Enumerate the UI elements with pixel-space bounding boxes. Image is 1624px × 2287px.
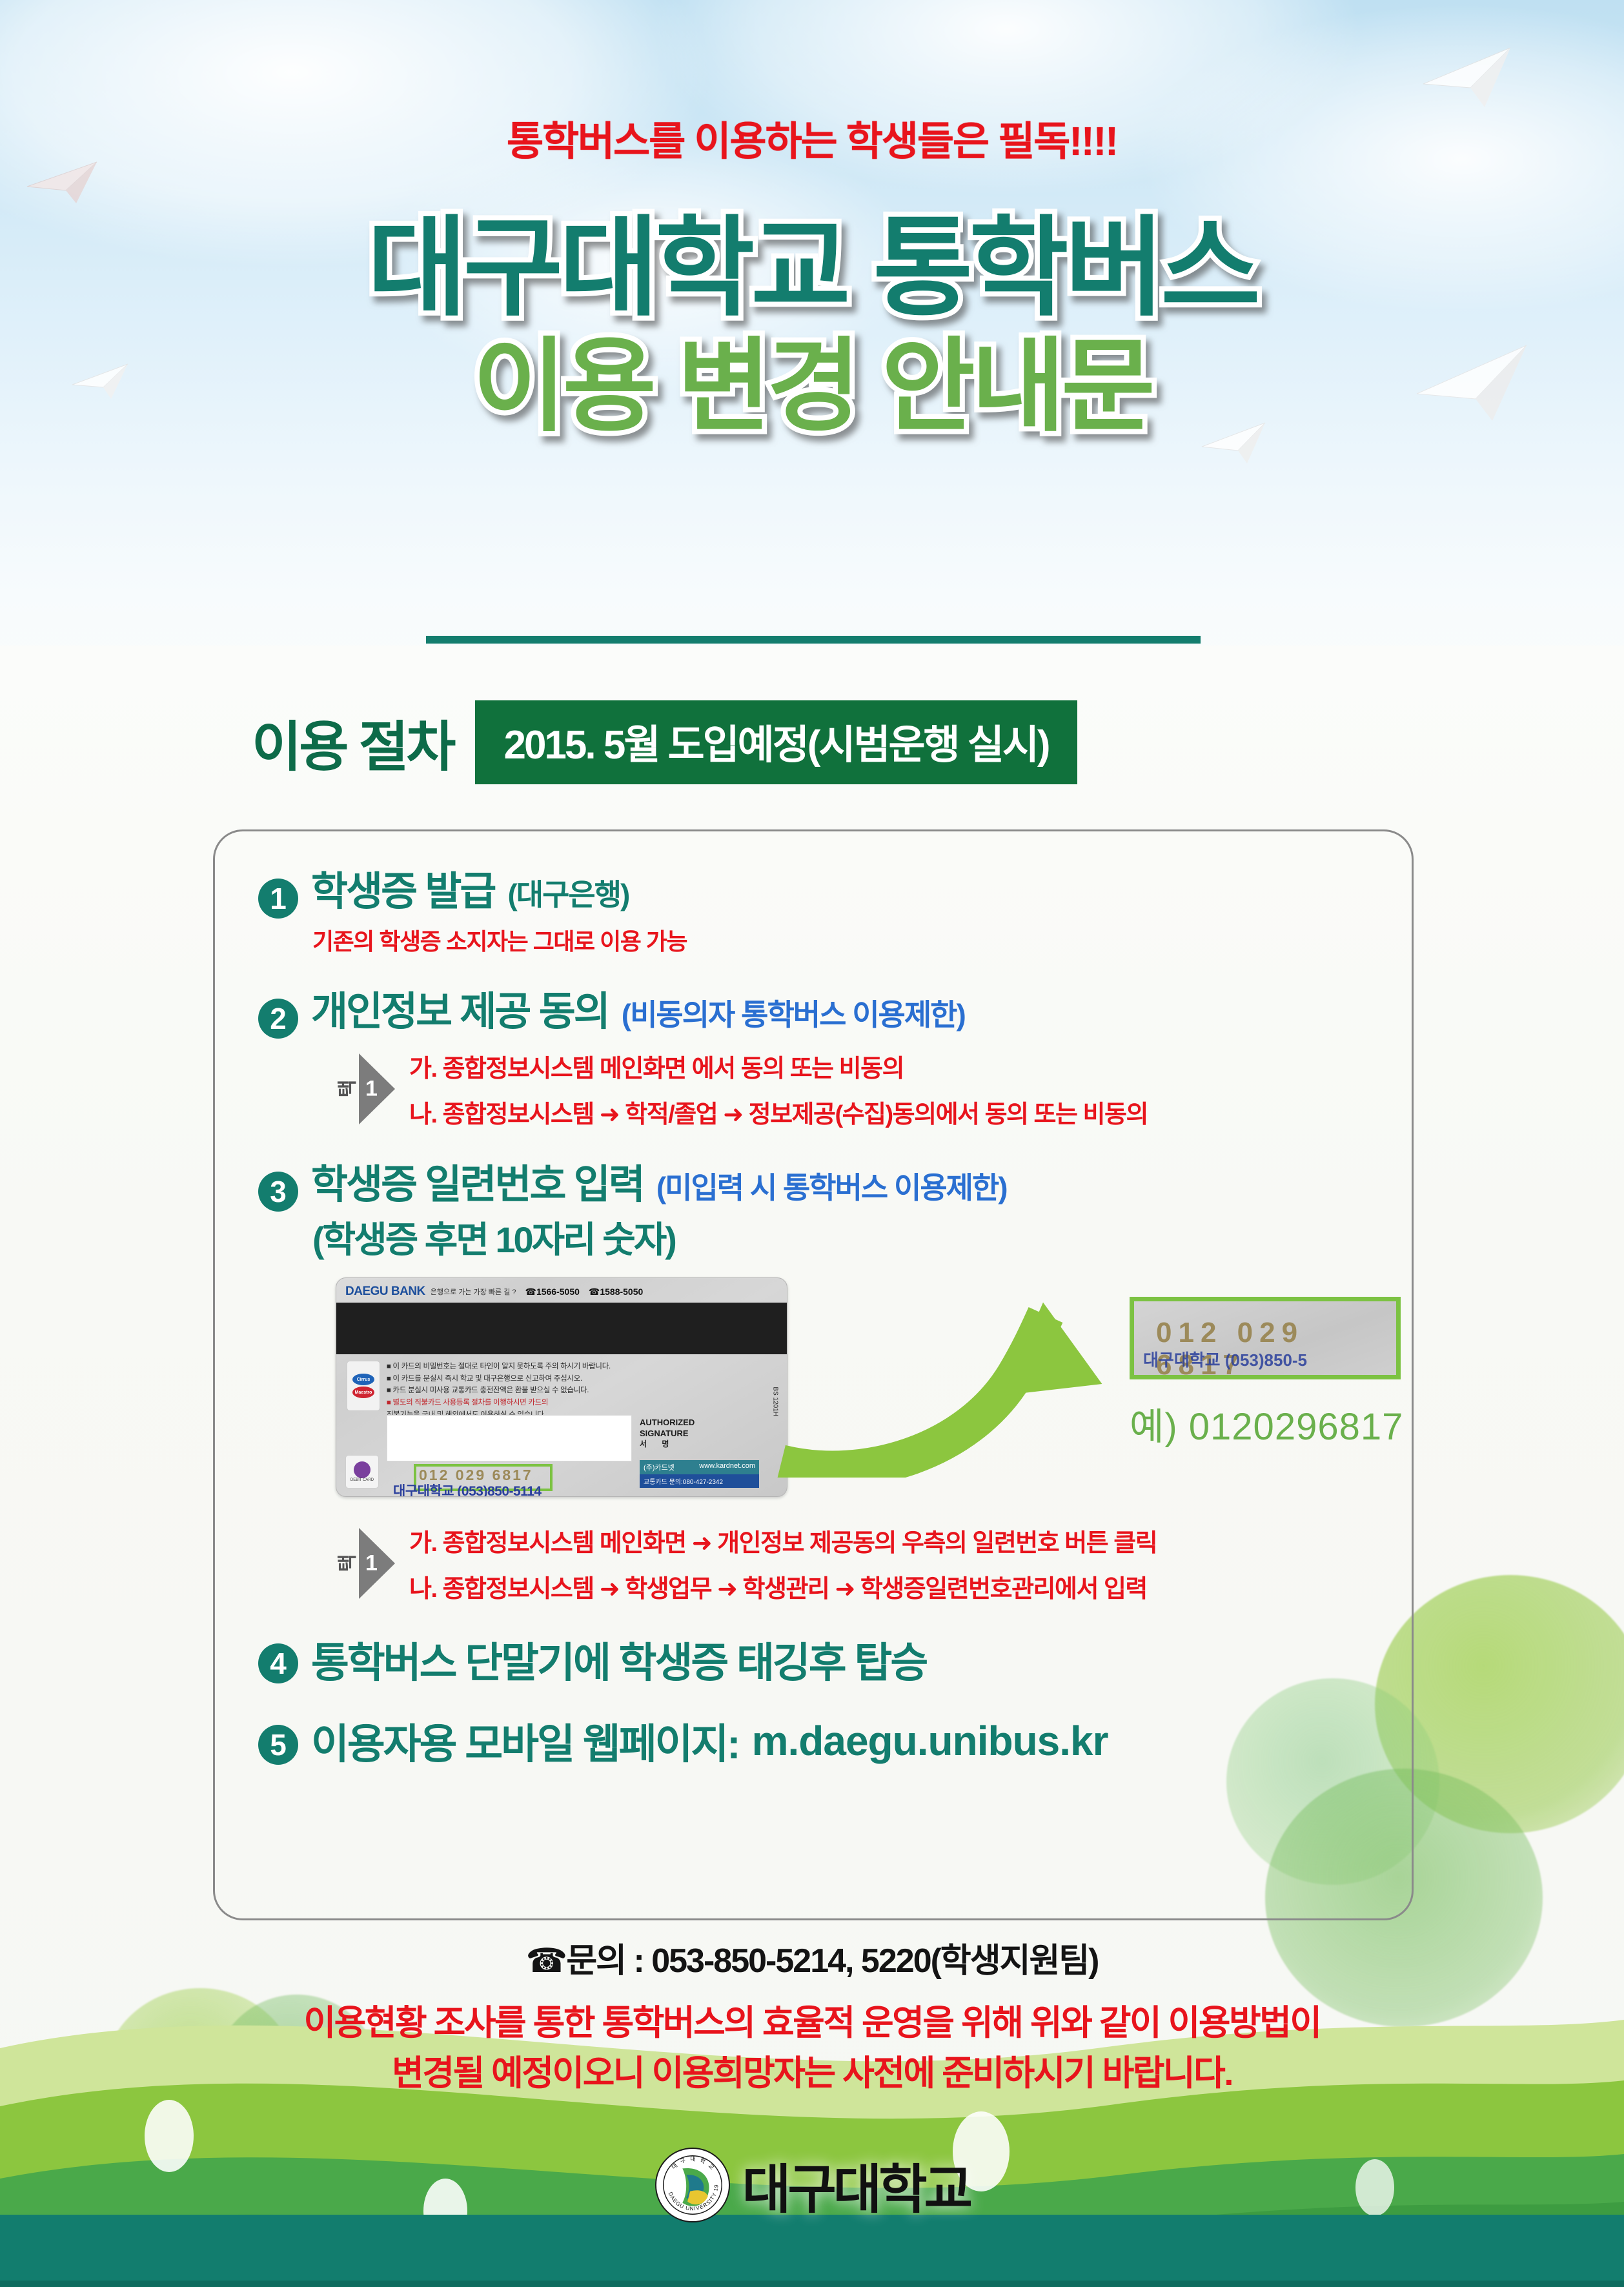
signature-label: AUTHORIZED SIGNATURE 서 명	[640, 1418, 695, 1449]
step-2-note: (비동의자 통학버스 이용제한)	[622, 991, 965, 1034]
step-1-note: (대구은행)	[507, 871, 629, 914]
step-number-badge: 5	[258, 1725, 298, 1765]
content-layer: 통학버스를 이용하는 학생들은 필독!!!! 대구대학교 통학버스 이용 변경 …	[0, 0, 1624, 2287]
card-network-logos: Cirrus Maestro	[347, 1361, 380, 1411]
step-item-5: 5 이용자용 모바일 웹페이지: m.daegu.unibus.kr	[258, 1711, 1420, 1771]
section-banner: 2015. 5월 도입예정(시범운행 실시)	[475, 700, 1077, 784]
choice-line: 나. 종합정보시스템 ➜ 학적/졸업 ➜ 정보제공(수집)동의에서 동의 또는 …	[409, 1094, 1148, 1130]
callout-serial-subtext: 대구대학교 (053)850-5	[1143, 1347, 1307, 1371]
step-3-choices: 가. 종합정보시스템 메인화면 ➜ 개인정보 제공동의 우측의 일련번호 버튼 …	[409, 1523, 1157, 1604]
green-arrow-icon	[775, 1290, 1136, 1478]
bank-tagline: 은행으로 가는 가장 빠른 길 ?	[431, 1286, 516, 1297]
step-3-title: 학생증 일련번호 입력	[311, 1152, 644, 1210]
contact-line: ☎문의 : 053-850-5214, 5220(학생지원팀)	[0, 1933, 1624, 1982]
signature-label-en2: SIGNATURE	[640, 1428, 695, 1439]
kicker-text: 통학버스를 이용하는 학생들은 필독!!!!	[0, 108, 1624, 167]
step-1-subtext: 기존의 학생증 소지자는 그대로 이용 가능	[312, 923, 1420, 957]
bank-tel-1: ☎1566-5050	[525, 1286, 580, 1297]
step-number-badge: 2	[258, 999, 298, 1039]
card-bullet: ■ 카드 분실시 미사용 교통카드 충전잔액은 환불 받으실 수 없습니다.	[387, 1385, 748, 1397]
kardnet-row-1: (주)카드넷 www.kardnet.com	[640, 1460, 759, 1474]
university-seal-icon: 대 구 대 학 교 DAEGU UNIVERSITY 1956	[655, 2147, 731, 2223]
step-2-choose-block: 택 1 가. 종합정보시스템 메인화면 에서 동의 또는 비동의 나. 종합정보…	[336, 1048, 1420, 1130]
choose-one-badge: 택 1	[336, 1053, 395, 1124]
notice-line-2: 변경될 예정이오니 이용희망자는 사전에 준비하시기 바랍니다.	[0, 2048, 1624, 2099]
choose-label: 택	[331, 1555, 360, 1572]
student-card-figure: DAEGU BANK 은행으로 가는 가장 빠른 길 ? ☎1566-5050 …	[323, 1277, 1394, 1503]
step-3-head: 3 학생증 일련번호 입력 (미입력 시 통학버스 이용제한)	[258, 1152, 1420, 1210]
kardnet-block: (주)카드넷 www.kardnet.com 교통카드 문의:080-427-2…	[640, 1460, 759, 1488]
choice-line: 가. 종합정보시스템 메인화면 ➜ 개인정보 제공동의 우측의 일련번호 버튼 …	[409, 1523, 1157, 1558]
maestro-logo: Maestro	[352, 1387, 374, 1398]
debit-card-logo: DEBIT CARD	[345, 1455, 379, 1489]
university-name: 대구대학교	[742, 2146, 969, 2223]
steps-list: 1 학생증 발급 (대구은행) 기존의 학생증 소지자는 그대로 이용 가능 2…	[258, 859, 1420, 1771]
card-bullet: ■ 별도의 직불카드 사용등록 절차를 이행하시면 카드의	[387, 1397, 748, 1409]
card-warning-text: ■ 이 카드의 비밀번호는 절대로 타인이 알지 못하도록 주의 하시기 바랍니…	[387, 1361, 748, 1421]
kardnet-name: (주)카드넷	[644, 1462, 675, 1472]
kardnet-url: www.kardnet.com	[699, 1462, 755, 1472]
step-5-title: 이용자용 모바일 웹페이지:	[311, 1711, 739, 1771]
serial-callout: 012 029 6817 대구대학교 (053)850-5 예) 0120296…	[1130, 1297, 1433, 1450]
title-divider	[426, 636, 1201, 644]
signature-label-en1: AUTHORIZED	[640, 1418, 695, 1428]
step-3-subtitle: (학생증 후면 10자리 숫자)	[312, 1211, 1420, 1263]
debit-dot-icon	[354, 1461, 370, 1478]
bank-tel-2: ☎1588-5050	[589, 1286, 643, 1297]
step-item-3: 3 학생증 일련번호 입력 (미입력 시 통학버스 이용제한) (학생증 후면 …	[258, 1152, 1420, 1604]
poster-title: 대구대학교 통학버스 이용 변경 안내문	[0, 213, 1624, 440]
mobile-web-url[interactable]: m.daegu.unibus.kr	[752, 1717, 1108, 1765]
bank-card-back-image: DAEGU BANK 은행으로 가는 가장 빠른 길 ? ☎1566-5050 …	[336, 1277, 787, 1497]
step-2-title: 개인정보 제공 동의	[311, 979, 609, 1037]
notice-line-1: 이용현황 조사를 통한 통학버스의 효율적 운영을 위해 위와 같이 이용방법이	[0, 1998, 1624, 2048]
bank-logo: DAEGU BANK	[345, 1285, 425, 1299]
step-1-title: 학생증 발급	[311, 859, 494, 917]
step-number-badge: 3	[258, 1172, 298, 1212]
step-3-note: (미입력 시 통학버스 이용제한)	[656, 1164, 1007, 1207]
signature-panel	[387, 1415, 632, 1461]
magnetic-stripe	[336, 1303, 787, 1354]
step-4-title: 통학버스 단말기에 학생증 태깅후 탑승	[311, 1630, 926, 1689]
step-2-choices: 가. 종합정보시스템 메인화면 에서 동의 또는 비동의 나. 종합정보시스템 …	[409, 1048, 1148, 1130]
serial-callout-box: 012 029 6817 대구대학교 (053)850-5	[1130, 1297, 1401, 1379]
card-top-row: DAEGU BANK 은행으로 가는 가장 빠른 길 ? ☎1566-5050 …	[336, 1285, 787, 1299]
step-2-head: 2 개인정보 제공 동의 (비동의자 통학버스 이용제한)	[258, 979, 1420, 1037]
choose-number: 1	[365, 1551, 378, 1576]
step-1-head: 1 학생증 발급 (대구은행)	[258, 859, 1420, 917]
poster-root: 통학버스를 이용하는 학생들은 필독!!!! 대구대학교 통학버스 이용 변경 …	[0, 0, 1624, 2287]
notice-block: 이용현황 조사를 통한 통학버스의 효율적 운영을 위해 위와 같이 이용방법이…	[0, 1998, 1624, 2099]
step-item-1: 1 학생증 발급 (대구은행) 기존의 학생증 소지자는 그대로 이용 가능	[258, 859, 1420, 957]
choose-label: 택	[331, 1081, 360, 1098]
choice-line: 가. 종합정보시스템 메인화면 에서 동의 또는 비동의	[409, 1048, 1148, 1084]
signature-label-kr: 서 명	[640, 1439, 695, 1450]
choice-line: 나. 종합정보시스템 ➜ 학생업무 ➜ 학생관리 ➜ 학생증일련번호관리에서 입…	[409, 1569, 1157, 1604]
serial-example-text: 예) 0120296817	[1130, 1396, 1433, 1450]
university-logo-row: 대 구 대 학 교 DAEGU UNIVERSITY 1956 대구대학교	[0, 2146, 1624, 2223]
university-tel: 대구대학교 (053)850-5114	[393, 1481, 542, 1497]
card-bullet: ■ 이 카드를 분실시 즉시 학교 및 대구은행으로 신고하여 주십시오.	[387, 1373, 748, 1385]
choose-number: 1	[365, 1077, 378, 1102]
title-line-1: 대구대학교 통학버스	[0, 213, 1624, 323]
step-item-2: 2 개인정보 제공 동의 (비동의자 통학버스 이용제한) 택 1 가. 종합정…	[258, 979, 1420, 1130]
step-3-choose-block: 택 1 가. 종합정보시스템 메인화면 ➜ 개인정보 제공동의 우측의 일련번호…	[336, 1523, 1420, 1604]
kardnet-tel: 교통카드 문의:080-427-2342	[640, 1474, 759, 1488]
cirrus-logo: Cirrus	[352, 1374, 374, 1385]
choose-one-badge: 택 1	[336, 1528, 395, 1599]
section-heading: 이용 절차	[252, 704, 453, 782]
step-number-badge: 1	[258, 879, 298, 919]
step-item-4: 4 통학버스 단말기에 학생증 태깅후 탑승	[258, 1630, 1420, 1689]
debit-label: DEBIT CARD	[350, 1478, 374, 1482]
title-line-2: 이용 변경 안내문	[0, 335, 1624, 439]
card-bullet: ■ 이 카드의 비밀번호는 절대로 타인이 알지 못하도록 주의 하시기 바랍니…	[387, 1361, 748, 1373]
section-header: 이용 절차 2015. 5월 도입예정(시범운행 실시)	[252, 700, 1077, 784]
step-number-badge: 4	[258, 1643, 298, 1683]
